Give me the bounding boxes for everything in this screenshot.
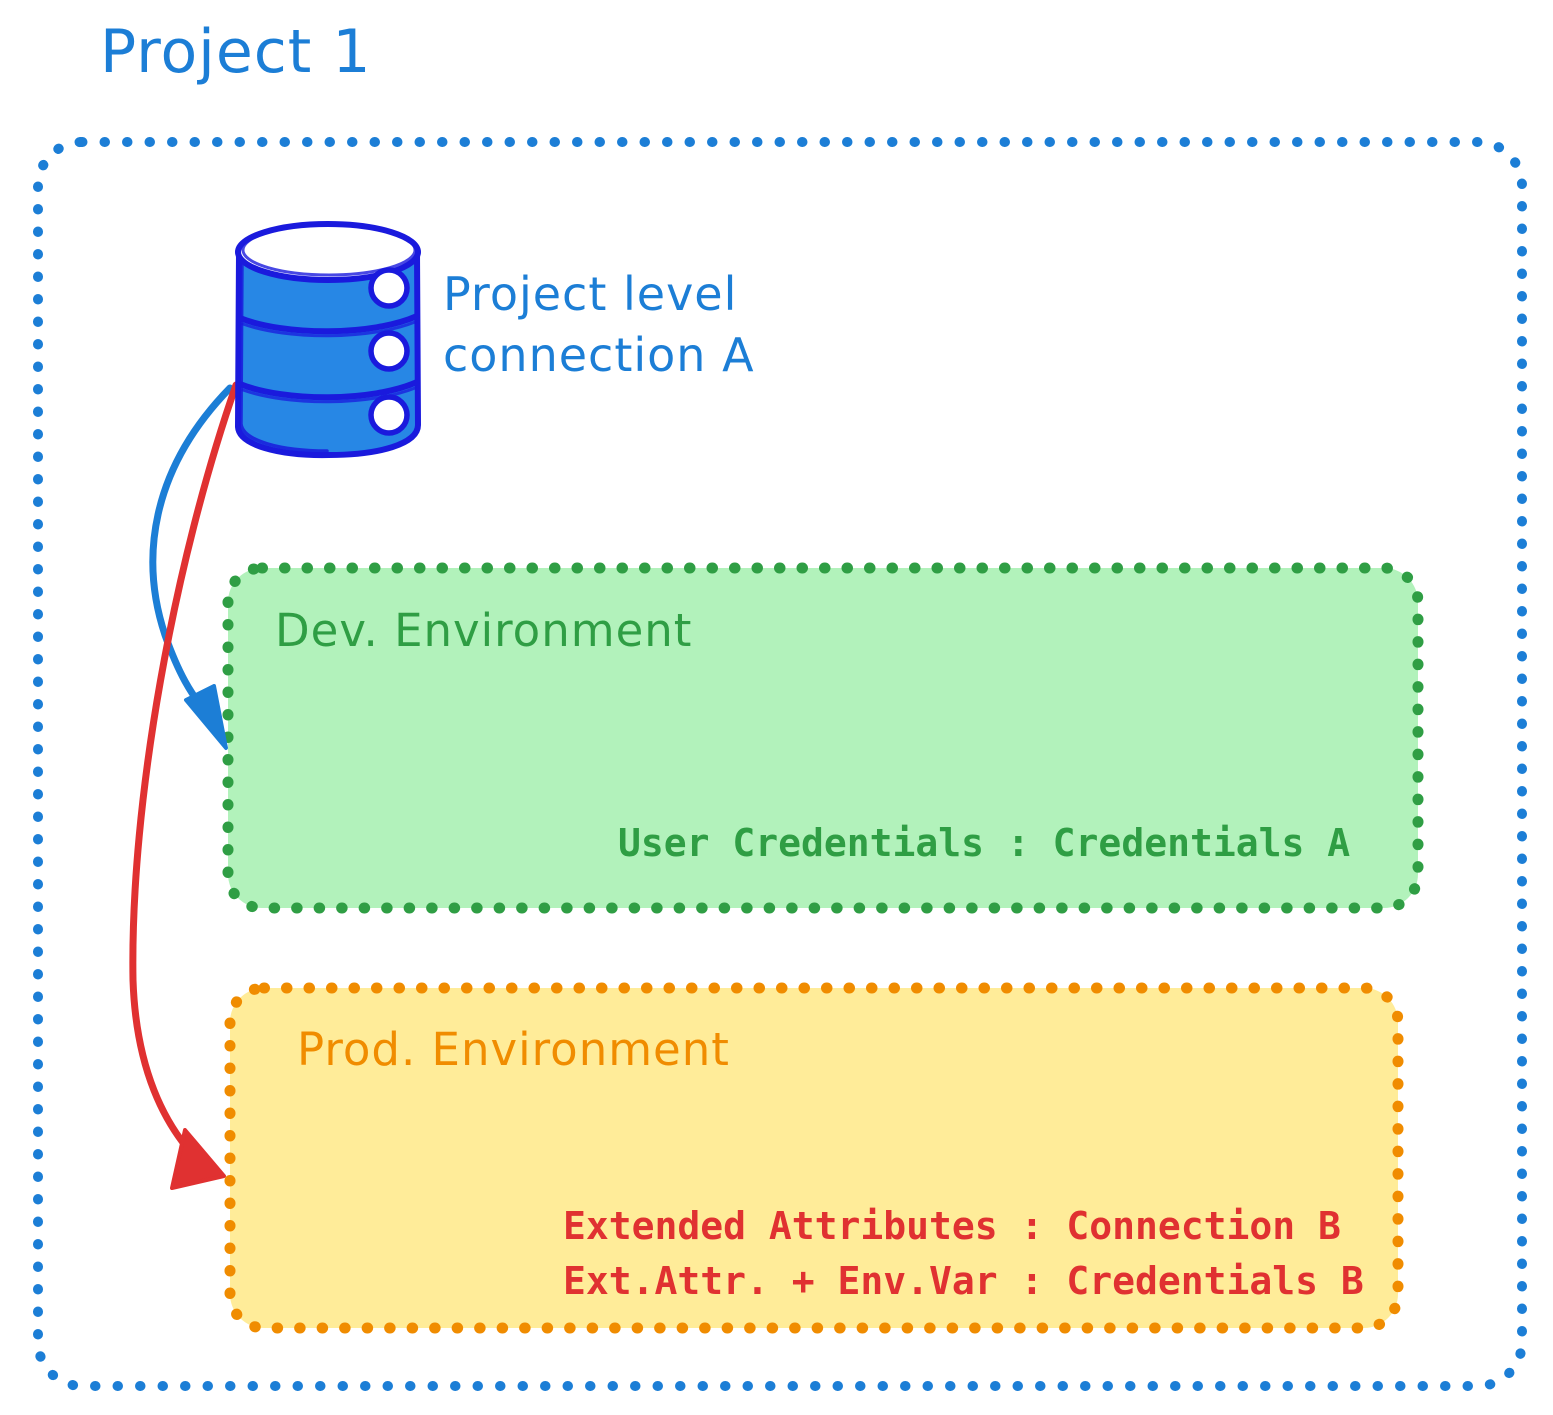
database-light-2 xyxy=(371,333,407,369)
dev-environment-details: User Credentials : Credentials A xyxy=(618,819,1350,868)
prod-environment-title: Prod. Environment xyxy=(297,1027,730,1072)
database-label-line-1: Project level xyxy=(443,264,755,325)
prod-detail-line-2: Ext.Attr. + Env.Var : Credentials B xyxy=(563,1254,1364,1309)
database-cylinder-icon[interactable] xyxy=(238,224,418,455)
arrow-db-to-prod xyxy=(133,385,236,1188)
database-label: Project levelconnection A xyxy=(443,264,755,385)
database-label-line-2: connection A xyxy=(443,325,755,386)
database-light-1 xyxy=(371,270,407,306)
dev-environment-title: Dev. Environment xyxy=(275,608,692,653)
page-title: Project 1 xyxy=(100,22,372,82)
prod-environment-details: Extended Attributes : Connection BExt.At… xyxy=(563,1199,1364,1309)
prod-detail-line-1: Extended Attributes : Connection B xyxy=(563,1199,1364,1254)
dev-detail-line-1: User Credentials : Credentials A xyxy=(618,819,1350,868)
database-light-3 xyxy=(371,397,407,433)
